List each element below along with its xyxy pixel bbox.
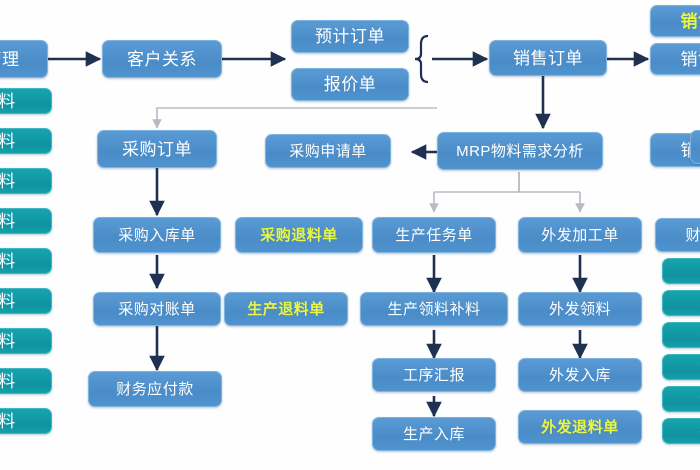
list-item[interactable]: 料 xyxy=(0,168,52,194)
list-item[interactable]: 料 xyxy=(0,88,52,114)
list-item[interactable]: 料 xyxy=(0,128,52,154)
node-process-report[interactable]: 工序汇报 xyxy=(372,358,496,392)
node-outsource-process[interactable]: 外发加工单 xyxy=(518,217,642,253)
node-outsource-receipt[interactable]: 外发入库 xyxy=(518,358,642,392)
node-label: 采购退料单 xyxy=(260,228,338,243)
node-purchase-receipt[interactable]: 采购入库单 xyxy=(93,217,221,253)
node-label: 销售 xyxy=(681,13,700,30)
node-label: 采购对账单 xyxy=(118,302,196,317)
node-right-partial-1[interactable] xyxy=(690,130,700,164)
list-item-label: 料 xyxy=(0,133,16,150)
list-item[interactable]: 条 xyxy=(662,322,700,348)
node-label: 管理 xyxy=(0,51,20,68)
node-finance-right[interactable]: 财务 xyxy=(655,218,700,252)
node-purchase-reconcile[interactable]: 采购对账单 xyxy=(93,292,221,326)
node-production-receipt[interactable]: 生产入库 xyxy=(372,417,496,451)
list-item[interactable]: 料 xyxy=(0,248,52,274)
node-forecast-order[interactable]: 预计订单 xyxy=(291,20,409,53)
node-sales-right-top[interactable]: 销售 xyxy=(650,5,700,37)
list-item-label: 料 xyxy=(0,213,16,230)
node-production-task[interactable]: 生产任务单 xyxy=(372,217,496,253)
list-item-label: 料 xyxy=(0,253,16,270)
node-production-return[interactable]: 生产退料单 xyxy=(224,292,348,326)
node-mrp-analysis[interactable]: MRP物料需求分析 xyxy=(437,132,603,170)
node-purchase-requisition[interactable]: 采购申请单 xyxy=(265,134,391,168)
list-item[interactable]: 文 xyxy=(662,258,700,284)
node-sales-right-second[interactable]: 销售 xyxy=(650,43,700,75)
list-item-label: 料 xyxy=(0,373,16,390)
node-label: 外发领料 xyxy=(549,302,611,317)
list-item[interactable]: 料 xyxy=(0,288,52,314)
node-label: 生产退料单 xyxy=(247,302,325,317)
node-label: 外发退料单 xyxy=(541,420,619,435)
node-label: 生产任务单 xyxy=(395,228,473,243)
node-label: 外发入库 xyxy=(549,368,611,383)
node-label: 客户关系 xyxy=(127,51,197,68)
list-item-label: 料 xyxy=(0,93,16,110)
node-label: 销售 xyxy=(681,51,700,68)
flowchart-canvas: 管理 料 料 料 料 料 料 料 料 料 客户关系 预计订单 报价单 销售订单 … xyxy=(0,0,700,470)
node-label: 生产领料补料 xyxy=(387,302,480,317)
list-item-label: 料 xyxy=(0,333,16,350)
node-outsource-return[interactable]: 外发退料单 xyxy=(518,410,642,444)
list-item[interactable]: 看 xyxy=(662,290,700,316)
node-finance-payable[interactable]: 财务应付款 xyxy=(88,371,222,407)
node-label: 财务 xyxy=(685,228,700,243)
list-item[interactable]: 运 xyxy=(662,386,700,412)
node-sales-order[interactable]: 销售订单 xyxy=(489,40,607,76)
node-label: 采购入库单 xyxy=(118,228,196,243)
node-label: 预计订单 xyxy=(315,28,385,45)
node-label: 采购申请单 xyxy=(289,144,367,159)
node-label: 财务应付款 xyxy=(116,382,194,397)
list-item-label: 料 xyxy=(0,293,16,310)
node-left-management[interactable]: 管理 xyxy=(0,40,48,78)
node-production-picking[interactable]: 生产领料补料 xyxy=(360,292,508,326)
list-item[interactable]: 料 xyxy=(0,208,52,234)
node-purchase-return[interactable]: 采购退料单 xyxy=(235,217,363,253)
list-item[interactable]: 售 xyxy=(662,354,700,380)
node-label: MRP物料需求分析 xyxy=(456,144,584,159)
list-item-label: 料 xyxy=(0,413,16,430)
node-label: 外发加工单 xyxy=(541,228,619,243)
list-item[interactable]: 报 xyxy=(662,418,700,444)
list-item-label: 料 xyxy=(0,173,16,190)
node-purchase-order[interactable]: 采购订单 xyxy=(97,130,217,168)
node-label: 生产入库 xyxy=(403,427,465,442)
node-quotation[interactable]: 报价单 xyxy=(291,68,409,101)
node-label: 报价单 xyxy=(324,76,377,93)
node-customer-relation[interactable]: 客户关系 xyxy=(102,40,222,78)
node-label: 采购订单 xyxy=(122,141,192,158)
node-label: 销售订单 xyxy=(513,50,583,67)
list-item[interactable]: 料 xyxy=(0,328,52,354)
node-label: 工序汇报 xyxy=(403,368,465,383)
list-item[interactable]: 料 xyxy=(0,408,52,434)
list-item[interactable]: 料 xyxy=(0,368,52,394)
node-outsource-picking[interactable]: 外发领料 xyxy=(518,292,642,326)
